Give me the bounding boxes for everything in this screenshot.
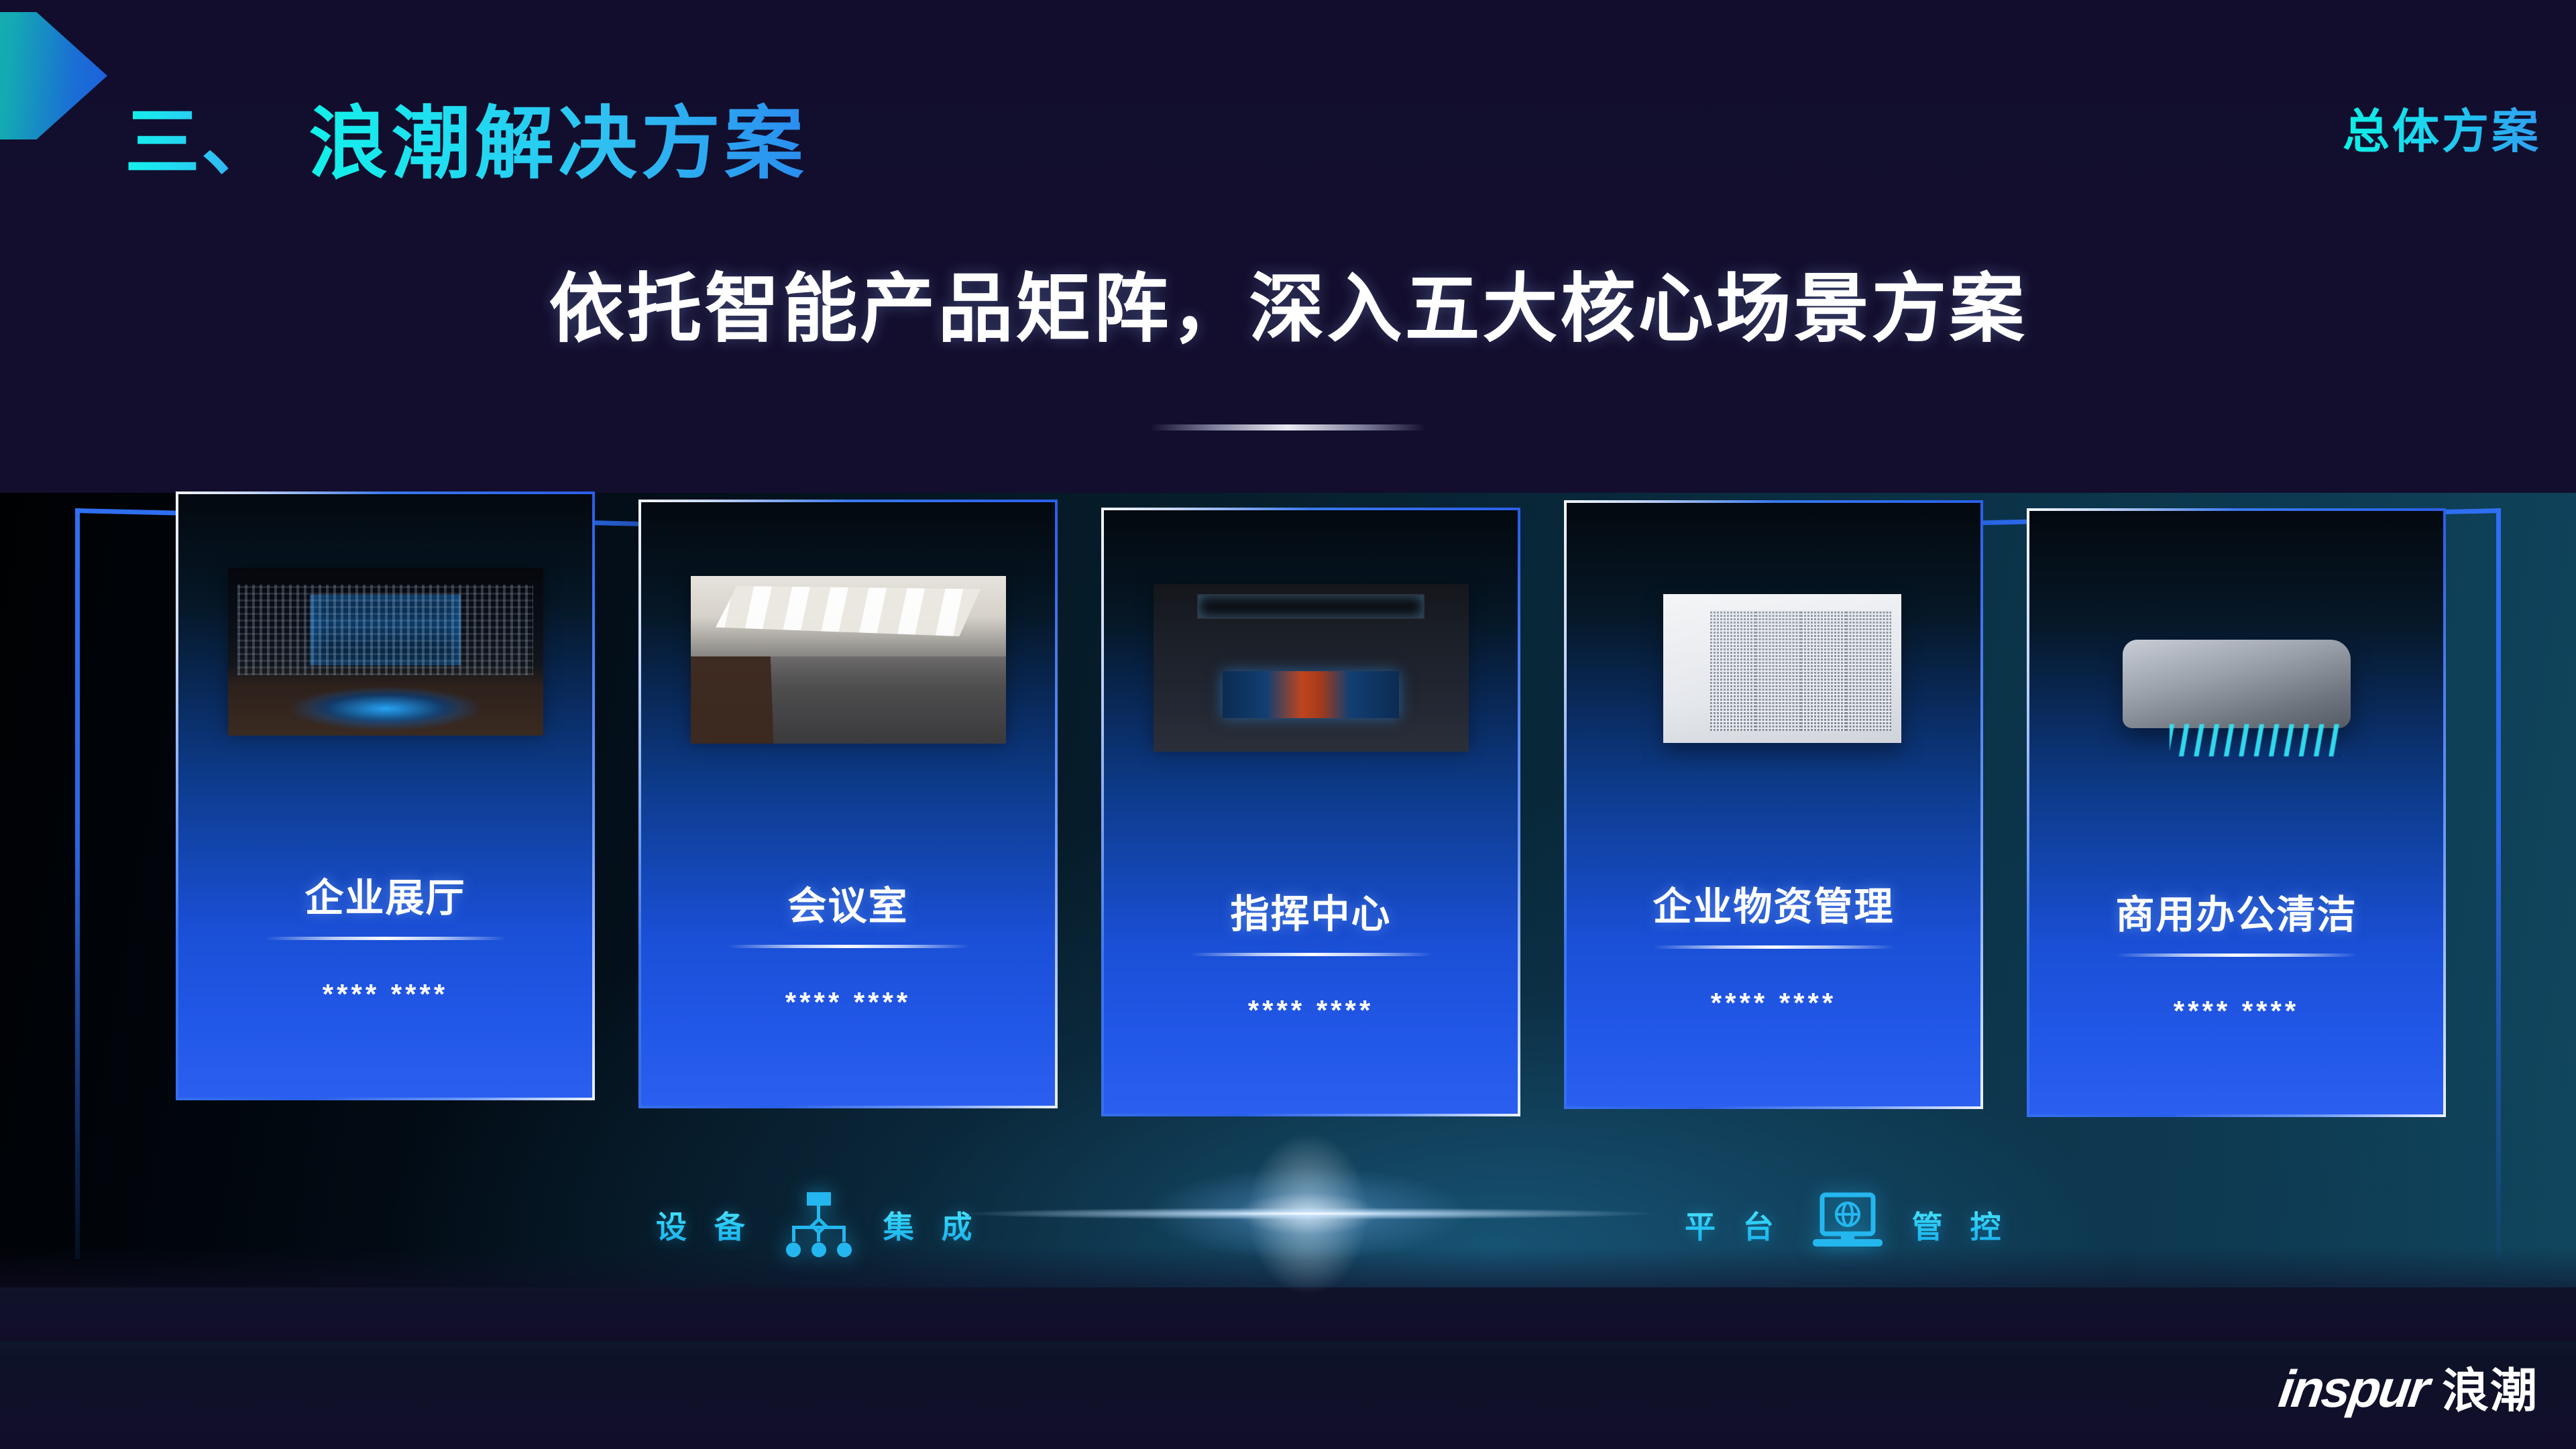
scenario-card[interactable]: 企业展厅 **** ****: [176, 491, 595, 1100]
feature-group-right: 平 台 管 控: [1685, 1188, 2011, 1262]
scenario-card[interactable]: 企业物资管理 **** ****: [1564, 500, 1983, 1109]
card-stars: **** ****: [2029, 995, 2443, 1027]
brand-logo: inspur 浪潮: [2280, 1353, 2538, 1421]
card-divider: [265, 937, 506, 940]
slide-root: 三、 浪潮解决方案 总体方案 依托智能产品矩阵，深入五大核心场景方案 企业展厅 …: [0, 0, 2576, 1449]
meeting-room-photo: [691, 576, 1006, 744]
logo-chinese: 浪潮: [2442, 1353, 2538, 1421]
card-photo: [1154, 584, 1469, 752]
card-title: 企业展厅: [178, 866, 592, 923]
scenario-card[interactable]: 指挥中心 **** ****: [1101, 508, 1520, 1116]
card-divider: [1190, 953, 1432, 956]
card-photo: [2069, 591, 2404, 793]
card-stars: **** ****: [178, 978, 592, 1010]
scenario-card-row: 企业展厅 **** **** 会议室 **** **** 指挥中心 **** *…: [0, 0, 2576, 1449]
card-title: 企业物资管理: [1567, 875, 1980, 931]
card-stars: **** ****: [1567, 987, 1980, 1019]
logo-wordmark: inspur: [2275, 1358, 2431, 1419]
enterprise-exhibition-hall-photo: [228, 568, 543, 736]
card-photo: [1606, 570, 1942, 771]
card-photo: [228, 568, 543, 736]
card-title: 指挥中心: [1104, 882, 1518, 939]
scenario-card[interactable]: 商用办公清洁 **** ****: [2027, 508, 2446, 1117]
card-stars: **** ****: [1104, 994, 1518, 1027]
feature-label-device: 设 备: [656, 1203, 754, 1247]
card-divider: [2116, 953, 2357, 957]
feature-label-integration: 集 成: [883, 1203, 982, 1247]
feature-group-left: 设 备 集 成: [656, 1188, 982, 1262]
smart-locker-cabinet-photo: [1606, 570, 1942, 771]
feature-label-platform: 平 台: [1685, 1203, 1783, 1247]
card-title: 会议室: [641, 874, 1055, 931]
laptop-globe-icon: [1807, 1188, 1888, 1262]
feature-label-control: 管 控: [1912, 1203, 2011, 1247]
network-hierarchy-icon: [779, 1188, 859, 1262]
card-stars: **** ****: [641, 986, 1055, 1019]
cleaning-robot-photo: [2069, 591, 2404, 793]
card-divider: [1653, 945, 1895, 949]
command-center-photo: [1154, 584, 1469, 752]
scenario-card[interactable]: 会议室 **** ****: [638, 500, 1058, 1108]
card-photo: [691, 576, 1006, 744]
card-divider: [728, 945, 969, 948]
card-title: 商用办公清洁: [2029, 883, 2443, 939]
